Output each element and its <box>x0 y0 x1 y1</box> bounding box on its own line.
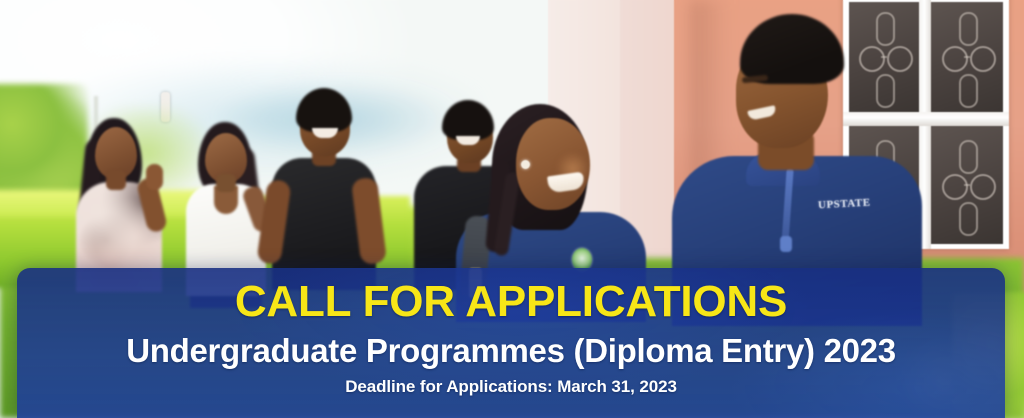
banner-headline: CALL FOR APPLICATIONS <box>235 279 787 326</box>
window-mullion-horizontal <box>843 112 1009 126</box>
window-pane <box>849 2 919 114</box>
banner-subheadline: Undergraduate Programmes (Diploma Entry)… <box>126 333 896 369</box>
earring <box>521 160 530 169</box>
window-pane <box>931 126 1003 244</box>
ornamental-grill <box>938 140 996 236</box>
banner-deadline-text: Deadline for Applications: March 31, 202… <box>345 377 677 397</box>
window-pane <box>931 2 1003 114</box>
promotional-poster: UPSTATE CALL FOR APPLICATIONS Undergradu… <box>0 0 1024 418</box>
ornamental-grill <box>855 12 913 108</box>
ornamental-grill <box>938 12 996 108</box>
call-for-applications-banner: CALL FOR APPLICATIONS Undergraduate Prog… <box>17 268 1005 418</box>
